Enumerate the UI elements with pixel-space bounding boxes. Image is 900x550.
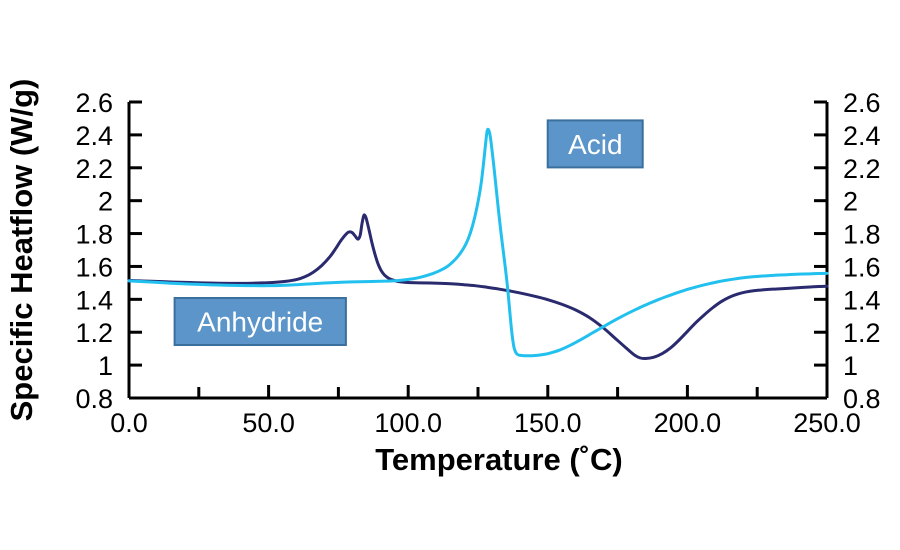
- y-axis-right-tick-label: 2: [843, 187, 858, 217]
- dsc-thermogram-chart: 0.811.21.41.61.822.22.42.6 0.811.21.41.6…: [0, 0, 900, 550]
- y-axis-right-tick-label: 1.4: [843, 285, 881, 315]
- series-annotation-anhydride: Anhydride: [175, 298, 346, 345]
- x-axis-tick-label: 150.0: [514, 408, 582, 438]
- annotation-badge-label: Acid: [568, 129, 622, 160]
- x-axis-tick-label: 0.0: [110, 408, 148, 438]
- y-axis-left-tick-label: 1: [98, 351, 113, 381]
- y-axis-left-tick-label: 1.4: [75, 285, 113, 315]
- y-axis-right-tick-label: 1.8: [843, 220, 881, 250]
- x-axis-tick-label: 100.0: [374, 408, 442, 438]
- y-axis-left-tick-label: 2.4: [75, 121, 113, 151]
- y-axis-left-tick-label: 0.8: [75, 384, 113, 414]
- y-axis-left-tick-label: 1.2: [75, 318, 113, 348]
- x-axis-tick-label: 50.0: [242, 408, 295, 438]
- y-axis-left-tick-label: 1.8: [75, 220, 113, 250]
- x-axis-tick-label: 250.0: [793, 408, 861, 438]
- y-axis-right-tick-label: 1: [843, 351, 858, 381]
- annotation-badge-label: Anhydride: [197, 307, 323, 338]
- y-axis-right-tick-label: 1.6: [843, 252, 881, 282]
- x-axis-tick-label: 200.0: [654, 408, 722, 438]
- y-axis-left-tick-label: 2: [98, 187, 113, 217]
- chart-figure: 0.811.21.41.61.822.22.42.6 0.811.21.41.6…: [0, 0, 900, 550]
- y-axis-right-tick-label: 2.4: [843, 121, 881, 151]
- series-annotation-acid: Acid: [548, 120, 643, 167]
- x-axis-title: Temperature (˚C): [375, 442, 622, 477]
- y-axis-right-tick-label: 1.2: [843, 318, 881, 348]
- y-axis-left-tick-label: 1.6: [75, 252, 113, 282]
- y-axis-right-tick-label: 2.6: [843, 88, 881, 118]
- y-axis-right-tick-label: 2.2: [843, 154, 881, 184]
- y-axis-title: Specific Heatflow (W/g): [4, 79, 39, 422]
- y-axis-left-tick-label: 2.6: [75, 88, 113, 118]
- y-axis-left-tick-label: 2.2: [75, 154, 113, 184]
